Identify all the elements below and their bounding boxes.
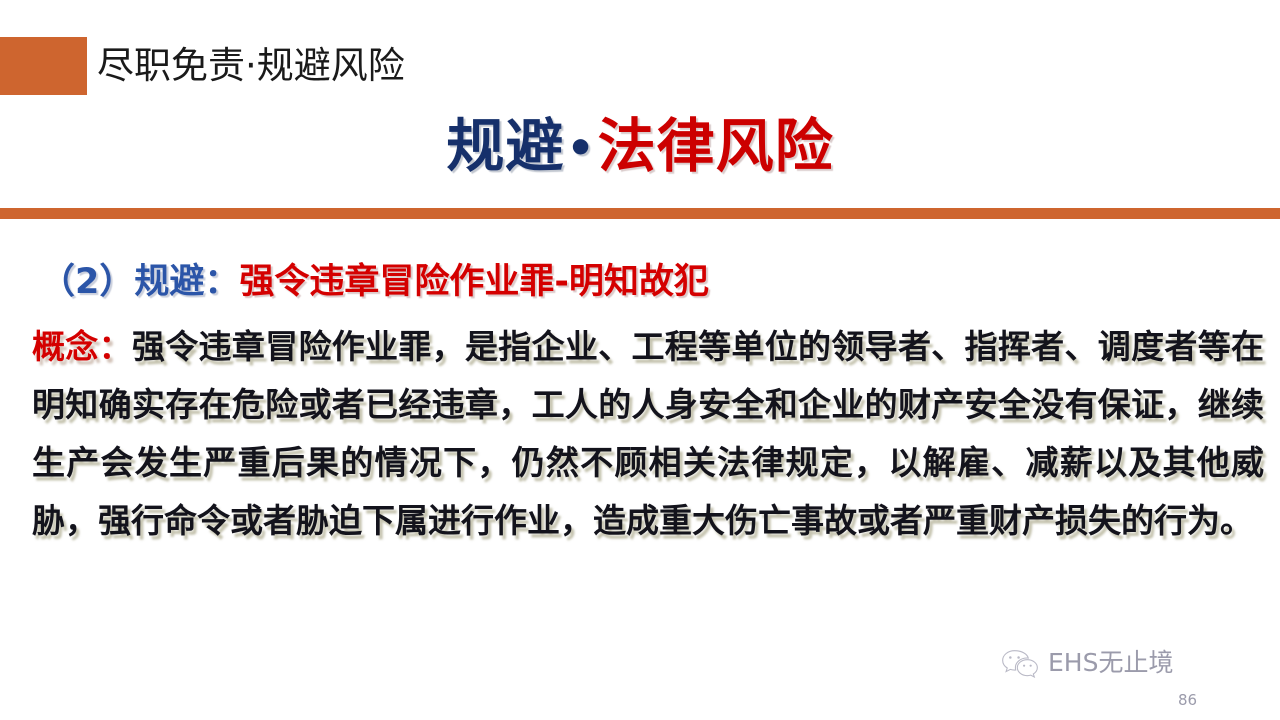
section-subtitle: （2）规避：强令违章冒险作业罪-明知故犯 bbox=[40, 259, 709, 305]
subtitle-red-segment: 强令违章冒险作业罪-明知故犯 bbox=[239, 262, 709, 302]
header-title: 尽职免责·规避风险 bbox=[97, 42, 405, 90]
subtitle-blue-segment: （2）规避： bbox=[40, 262, 239, 302]
body-paragraph-text: 强令违章冒险作业罪，是指企业、工程等单位的领导者、指挥者、调度者等在明知确实存在… bbox=[32, 327, 1264, 540]
body-lead-label: 概念： bbox=[32, 327, 132, 366]
wechat-icon bbox=[1000, 648, 1040, 678]
page-number: 86 bbox=[1178, 691, 1197, 709]
page-title-blue-segment: 规避 bbox=[446, 112, 564, 180]
body-paragraph: 概念：强令违章冒险作业罪，是指企业、工程等单位的领导者、指挥者、调度者等在明知确… bbox=[32, 318, 1264, 550]
orange-divider bbox=[0, 208, 1280, 219]
page-title-separator-dot: • bbox=[564, 123, 597, 174]
header-accent-block bbox=[0, 37, 87, 95]
footer-branding: EHS无止境 bbox=[1000, 648, 1173, 678]
slide-canvas: 尽职免责·规避风险 规避•法律风险 （2）规避：强令违章冒险作业罪-明知故犯 概… bbox=[0, 0, 1280, 720]
page-title: 规避•法律风险 bbox=[0, 108, 1280, 187]
footer-logo-text: EHS无止境 bbox=[1048, 648, 1173, 678]
page-title-red-segment: 法律风险 bbox=[598, 112, 834, 180]
